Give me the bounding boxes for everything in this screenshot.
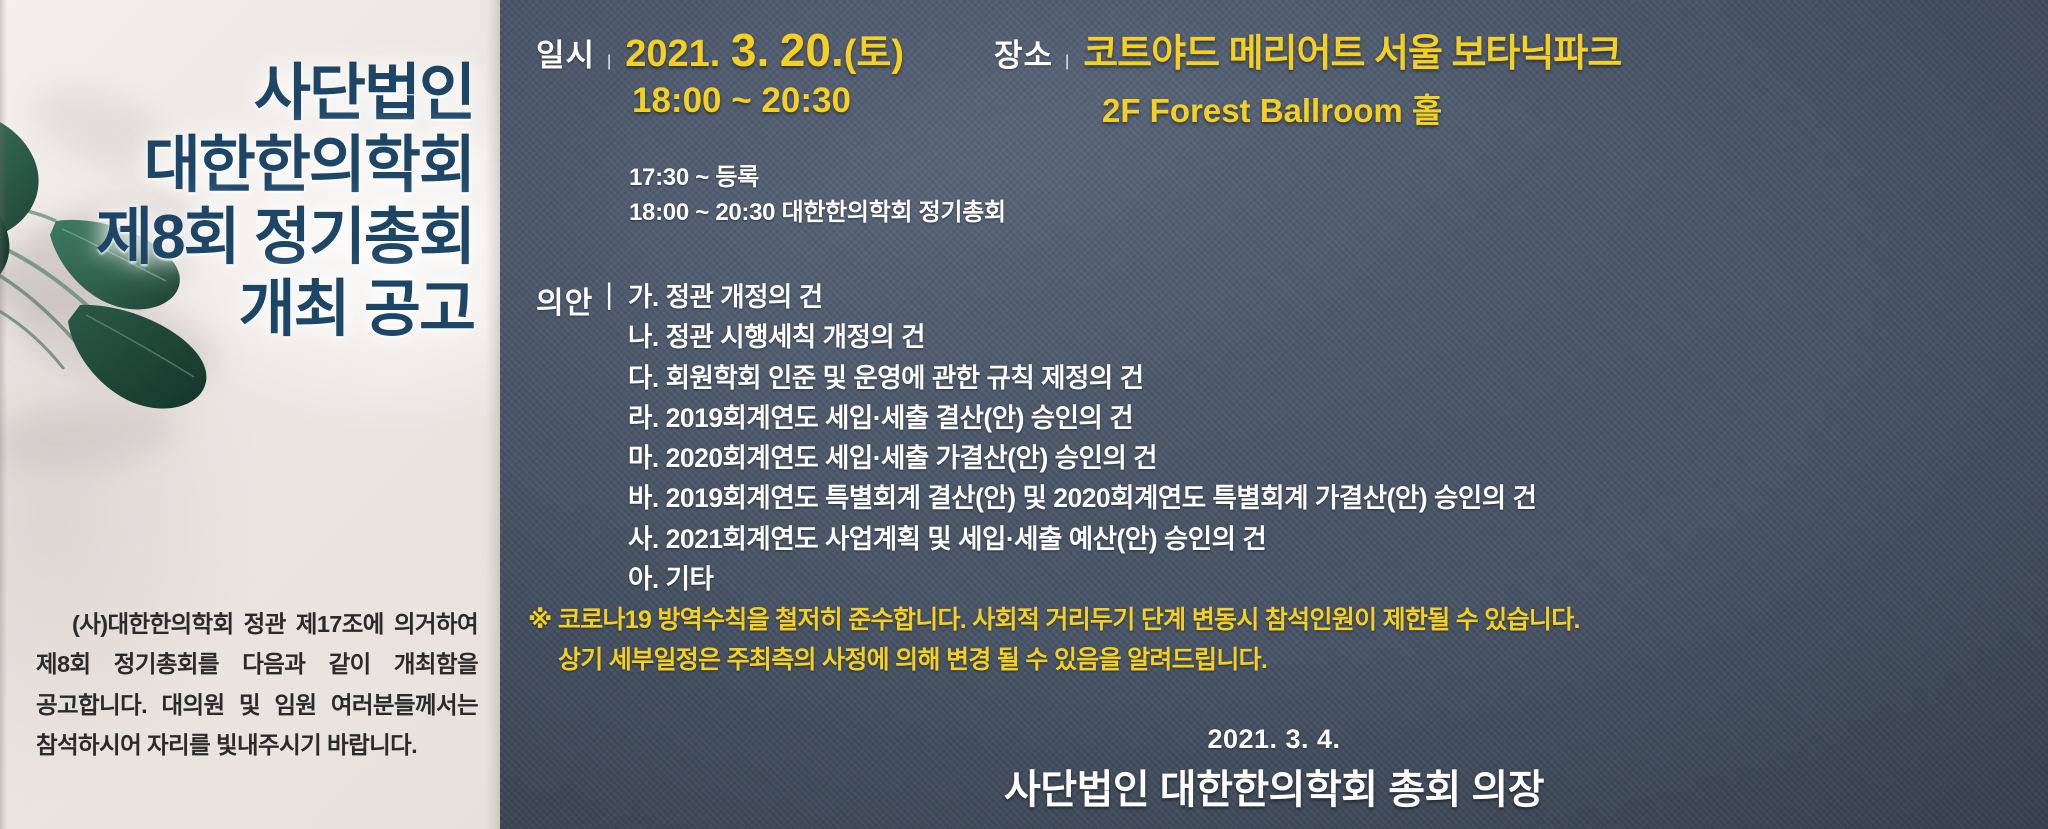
agenda-item: 바. 2019회계연도 특별회계 결산(안) 및 2020회계연도 특별회계 가…: [628, 478, 1536, 518]
notice-line-1: ※ 코로나19 방역수칙을 철저히 준수합니다. 사회적 거리두기 단계 변동시…: [528, 606, 1580, 634]
announcement-body-text: (사)대한한의학회 정관 제17조에 의거하여 제8회 정기총회를 다음과 같이…: [36, 604, 478, 766]
right-panel: 일시 | 2021. 3. 20.(토) 18:00 ~ 20:30 장소 |: [500, 0, 2048, 829]
agenda-item: 나. 정관 시행세칙 개정의 건: [628, 317, 1536, 357]
panel-divider-shadow: [486, 0, 500, 829]
covid-notice: ※ 코로나19 방역수칙을 철저히 준수합니다. 사회적 거리두기 단계 변동시…: [528, 601, 2026, 680]
venue-hall: 2F Forest Ballroom 홀: [1102, 84, 1621, 132]
agenda-item: 라. 2019회계연도 세입·세출 결산(안) 승인의 건: [628, 398, 1536, 438]
left-panel: 사단법인 대한한의학회 제8회 정기총회 개최 공고 (사)대한한의학회 정관 …: [0, 0, 500, 829]
venue-separator: |: [1053, 53, 1083, 71]
signoff-date: 2021. 3. 4.: [500, 724, 2048, 755]
schedule-item: 18:00 ~ 20:30 대한한의학회 정기총회: [629, 195, 1006, 230]
agenda-item: 마. 2020회계연도 세입·세출 가결산(안) 승인의 건: [628, 438, 1536, 478]
title-line-1: 사단법인: [24, 58, 474, 130]
agenda-items: 가. 정관 개정의 건 나. 정관 시행세칙 개정의 건 다. 회원학회 인준 …: [628, 277, 1536, 599]
agenda-label: 의안: [536, 277, 593, 599]
agenda-item: 아. 기타: [628, 559, 1536, 599]
left-edge-shading: [0, 0, 7, 829]
event-date-day: 20.: [780, 24, 844, 76]
title-line-2: 대한한의학회: [24, 130, 474, 202]
venue-block: 장소 | 코트야드 메리어트 서울 보타닉파크 2F Forest Ballro…: [994, 22, 1621, 132]
event-date-weekday: (토): [844, 33, 904, 75]
datetime-separator: |: [595, 53, 625, 71]
title-line-3: 제8회 정기총회: [24, 202, 474, 274]
datetime-label: 일시: [536, 30, 595, 75]
datetime-block: 일시 | 2021. 3. 20.(토) 18:00 ~ 20:30: [536, 22, 904, 121]
event-date-month: 3.: [731, 24, 769, 76]
agenda-item: 가. 정관 개정의 건: [628, 277, 1536, 317]
venue-name: 코트야드 메리어트 서울 보타닉파크: [1083, 22, 1621, 77]
agenda-separator: |: [593, 277, 628, 599]
signoff-block: 2021. 3. 4. 사단법인 대한한의학회 총회 의장: [500, 724, 2048, 815]
event-date-year: 2021.: [625, 33, 720, 75]
signoff-organization: 사단법인 대한한의학회 총회 의장: [500, 757, 2048, 815]
page-title: 사단법인 대한한의학회 제8회 정기총회 개최 공고: [24, 58, 474, 346]
agenda-item: 사. 2021회계연도 사업계획 및 세입·세출 예산(안) 승인의 건: [628, 519, 1536, 559]
title-line-4: 개최 공고: [24, 274, 474, 346]
announcement-poster: 사단법인 대한한의학회 제8회 정기총회 개최 공고 (사)대한한의학회 정관 …: [0, 0, 2048, 829]
schedule-item: 17:30 ~ 등록: [629, 160, 1006, 195]
agenda-block: 의안 | 가. 정관 개정의 건 나. 정관 시행세칙 개정의 건 다. 회원학…: [536, 277, 1536, 599]
event-header: 일시 | 2021. 3. 20.(토) 18:00 ~ 20:30 장소 |: [500, 22, 2048, 132]
notice-line-2: 상기 세부일정은 주최측의 사정에 의해 변경 될 수 있음을 알려드립니다.: [528, 641, 2026, 681]
agenda-item: 다. 회원학회 인준 및 운영에 관한 규칙 제정의 건: [628, 358, 1536, 398]
venue-label: 장소: [994, 30, 1053, 75]
event-time: 18:00 ~ 20:30: [632, 81, 904, 121]
event-date: 2021. 3. 20.(토): [625, 22, 904, 77]
schedule-list: 17:30 ~ 등록 18:00 ~ 20:30 대한한의학회 정기총회: [629, 160, 1006, 230]
